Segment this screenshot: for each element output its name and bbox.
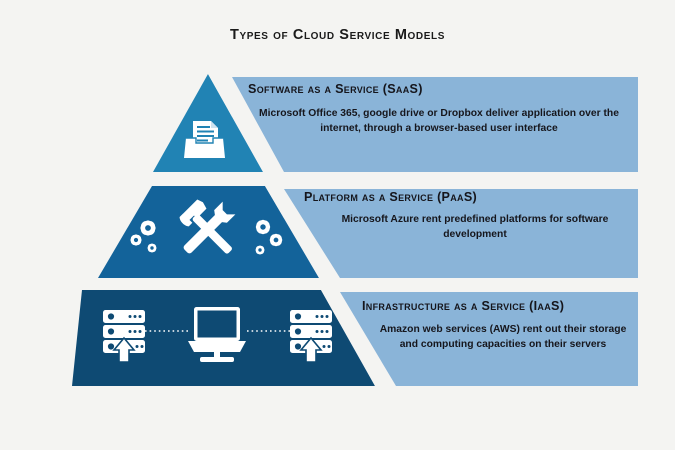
paas-body: Microsoft Azure rent predefined platform… xyxy=(296,213,636,242)
saas-text-block: Software as a Service (SaaS) Microsoft O… xyxy=(248,82,630,136)
iaas-text-block: Infrastructure as a Service (IaaS) Amazo… xyxy=(358,299,636,352)
paas-text-block: Platform as a Service (PaaS) Microsoft A… xyxy=(296,190,636,242)
saas-body: Microsoft Office 365, google drive or Dr… xyxy=(248,107,630,136)
saas-heading: Software as a Service (SaaS) xyxy=(248,82,630,96)
infographic-canvas: Types of Cloud Service Models xyxy=(0,0,675,450)
paas-heading: Platform as a Service (PaaS) xyxy=(296,190,636,204)
iaas-body: Amazon web services (AWS) rent out their… xyxy=(358,323,636,352)
iaas-heading: Infrastructure as a Service (IaaS) xyxy=(358,299,636,313)
